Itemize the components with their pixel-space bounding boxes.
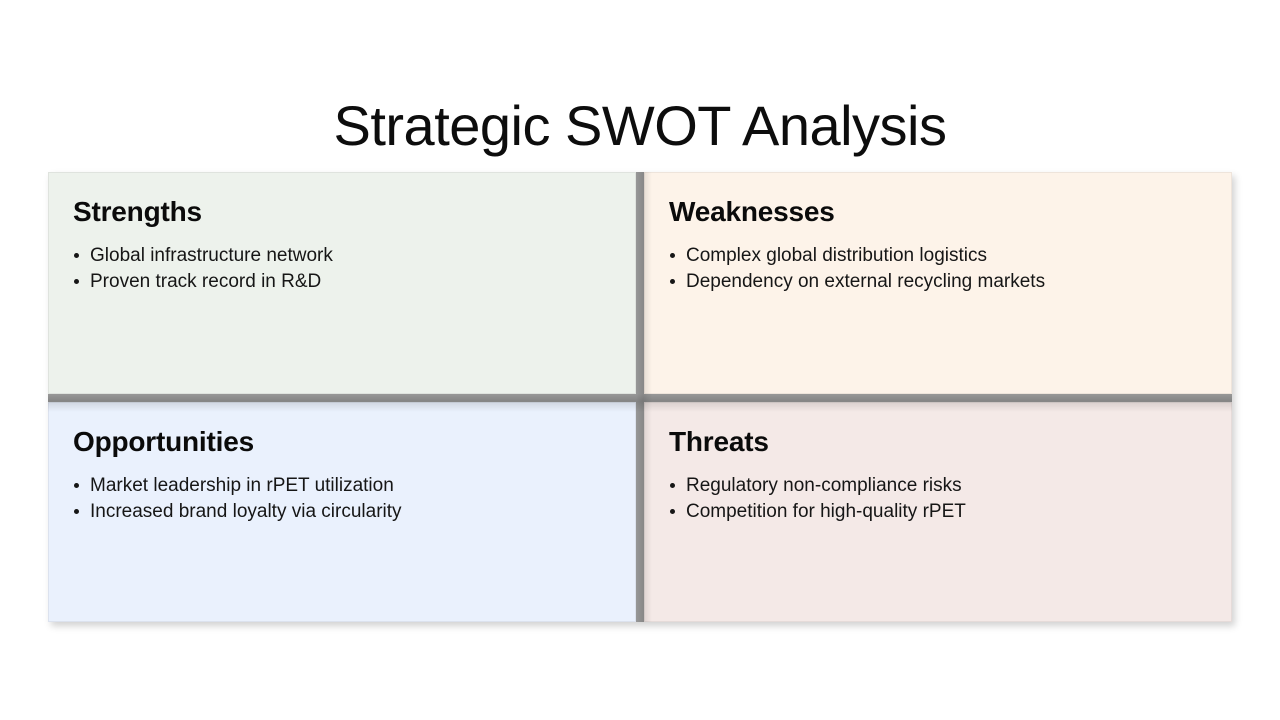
bullet-list-strengths: Global infrastructure network Proven tra… — [73, 243, 609, 295]
quadrant-opportunities[interactable]: Opportunities Market leadership in rPET … — [48, 402, 636, 622]
divider-vertical-top — [636, 172, 644, 394]
list-item-label: Complex global distribution logistics — [686, 245, 987, 266]
quadrant-heading-opportunities: Opportunities — [73, 425, 609, 459]
list-item: Global infrastructure network — [73, 243, 609, 269]
bullet-icon — [74, 509, 79, 514]
list-item-label: Competition for high-quality rPET — [686, 501, 966, 522]
list-item-label: Regulatory non-compliance risks — [686, 475, 962, 496]
list-item-label: Dependency on external recycling markets — [686, 271, 1045, 292]
bullet-list-weaknesses: Complex global distribution logistics De… — [669, 243, 1205, 295]
bullet-icon — [670, 509, 675, 514]
bullet-icon — [670, 483, 675, 488]
quadrant-strengths[interactable]: Strengths Global infrastructure network … — [48, 172, 636, 394]
list-item: Increased brand loyalty via circularity — [73, 499, 609, 525]
list-item: Dependency on external recycling markets — [669, 269, 1205, 295]
bullet-icon — [74, 279, 79, 284]
list-item-label: Proven track record in R&D — [90, 271, 321, 292]
bullet-list-threats: Regulatory non-compliance risks Competit… — [669, 473, 1205, 525]
quadrant-weaknesses[interactable]: Weaknesses Complex global distribution l… — [644, 172, 1232, 394]
list-item: Competition for high-quality rPET — [669, 499, 1205, 525]
list-item: Complex global distribution logistics — [669, 243, 1205, 269]
quadrant-threats[interactable]: Threats Regulatory non-compliance risks … — [644, 402, 1232, 622]
list-item-label: Market leadership in rPET utilization — [90, 475, 394, 496]
bullet-icon — [670, 253, 675, 258]
divider-vertical-bottom — [636, 402, 644, 622]
list-item-label: Global infrastructure network — [90, 245, 333, 266]
bullet-icon — [670, 279, 675, 284]
list-item: Regulatory non-compliance risks — [669, 473, 1205, 499]
swot-slide: Strategic SWOT Analysis Strengths Global… — [0, 0, 1280, 720]
list-item: Proven track record in R&D — [73, 269, 609, 295]
list-item-label: Increased brand loyalty via circularity — [90, 501, 402, 522]
quadrant-heading-strengths: Strengths — [73, 195, 609, 229]
list-item: Market leadership in rPET utilization — [73, 473, 609, 499]
bullet-icon — [74, 253, 79, 258]
divider-horizontal — [48, 394, 1232, 402]
bullet-icon — [74, 483, 79, 488]
quadrant-heading-threats: Threats — [669, 425, 1205, 459]
swot-matrix: Strengths Global infrastructure network … — [48, 172, 1232, 622]
bullet-list-opportunities: Market leadership in rPET utilization In… — [73, 473, 609, 525]
page-title: Strategic SWOT Analysis — [0, 90, 1280, 162]
quadrant-heading-weaknesses: Weaknesses — [669, 195, 1205, 229]
